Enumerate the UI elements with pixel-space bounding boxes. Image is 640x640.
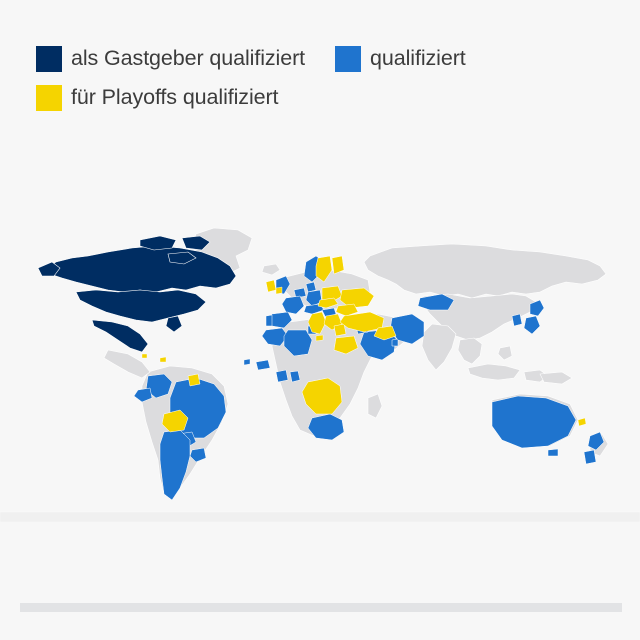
world-map: [0, 222, 640, 522]
legend-row-2: für Playoffs qualifiziert: [36, 85, 616, 111]
legend-swatch-qualified-icon: [335, 46, 361, 72]
legend-swatch-host-icon: [36, 46, 62, 72]
legend-swatch-playoff-icon: [36, 85, 62, 111]
legend-item-host: als Gastgeber qualifiziert: [36, 46, 305, 72]
legend-row-1: als Gastgeber qualifiziert qualifiziert: [36, 46, 616, 72]
map-region-group-host: [38, 236, 236, 352]
legend-item-qualified: qualifiziert: [335, 46, 466, 72]
legend-item-playoff: für Playoffs qualifiziert: [36, 85, 278, 111]
legend-label-qualified: qualifiziert: [370, 48, 466, 70]
legend-label-playoff: für Playoffs qualifiziert: [71, 87, 278, 109]
footer-divider-bar: [20, 603, 622, 612]
legend-label-host: als Gastgeber qualifiziert: [71, 48, 305, 70]
legend: als Gastgeber qualifiziert qualifiziert …: [36, 46, 616, 124]
world-map-svg: [0, 222, 640, 522]
world-map-graphic: als Gastgeber qualifiziert qualifiziert …: [0, 0, 640, 640]
